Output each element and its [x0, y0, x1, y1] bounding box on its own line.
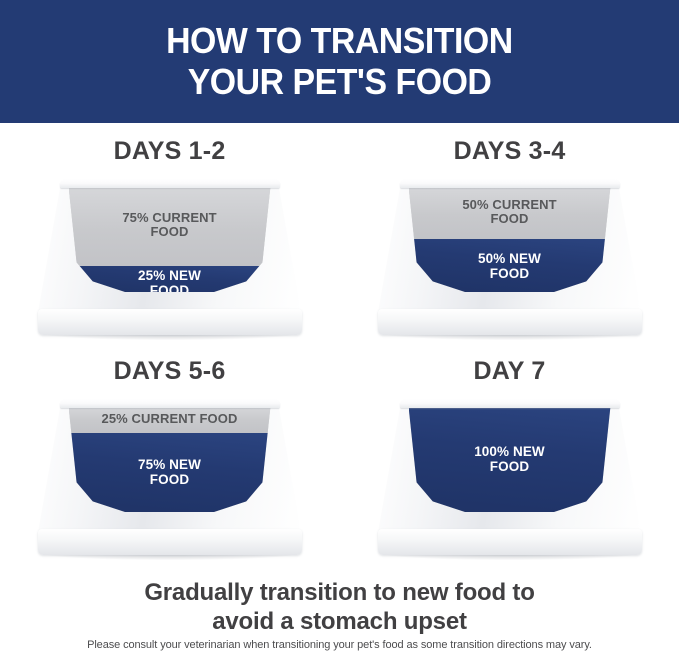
footer-disclaimer: Please consult your veterinarian when tr… — [0, 639, 679, 651]
bowl-base — [38, 309, 302, 335]
transition-steps-grid: DAYS 1-2 75% CURRENT FOOD 25% NEW FOOD — [0, 123, 679, 573]
current-food-label-line-1: 75% CURRENT — [69, 211, 271, 226]
new-food-label-line-1: 75% NEW — [69, 457, 271, 472]
new-food-label-line-1: 25% NEW — [69, 268, 271, 283]
current-food-fill: 75% CURRENT FOOD — [69, 186, 271, 266]
new-food-label-line-2: FOOD — [409, 266, 611, 281]
step-title: DAYS 5-6 — [0, 357, 339, 386]
bowl-rim — [60, 399, 280, 408]
page-title-line-1: HOW TO TRANSITION — [166, 21, 513, 61]
current-food-label: 50% CURRENT FOOD — [409, 198, 611, 227]
bowl-rim — [400, 179, 620, 188]
current-food-label-line-1: 25% CURRENT FOOD — [69, 412, 271, 427]
food-bowl-illustration: 25% CURRENT FOOD 75% NEW FOOD — [38, 399, 302, 555]
current-food-fill: 25% CURRENT FOOD — [69, 406, 271, 433]
step-title: DAY 7 — [340, 357, 679, 386]
step-title: DAYS 3-4 — [340, 137, 679, 166]
new-food-fill: 100% NEW FOOD — [409, 406, 611, 512]
new-food-fill: 75% NEW FOOD — [69, 433, 271, 513]
bowl-cavity: 25% CURRENT FOOD 75% NEW FOOD — [69, 406, 271, 512]
food-bowl-illustration: 100% NEW FOOD — [378, 399, 642, 555]
new-food-label: 100% NEW FOOD — [409, 444, 611, 474]
bowl-rim — [60, 179, 280, 188]
current-food-label-line-1: 50% CURRENT — [409, 198, 611, 213]
transition-step-days-5-6: DAYS 5-6 25% CURRENT FOOD 75% NEW FOOD — [0, 351, 339, 573]
new-food-label: 75% NEW FOOD — [69, 457, 271, 487]
current-food-label: 25% CURRENT FOOD — [69, 412, 271, 427]
header-banner: HOW TO TRANSITION YOUR PET'S FOOD — [0, 0, 679, 123]
footer-headline-line-1: Gradually transition to new food to — [0, 578, 679, 607]
current-food-label: 75% CURRENT FOOD — [69, 211, 271, 240]
bowl-cavity: 50% CURRENT FOOD 50% NEW FOOD — [409, 186, 611, 292]
new-food-label-line-2: FOOD — [69, 472, 271, 487]
transition-step-day-7: DAY 7 100% NEW FOOD — [340, 351, 679, 573]
new-food-label-line-2: FOOD — [409, 459, 611, 474]
current-food-label-line-2: FOOD — [409, 212, 611, 227]
current-food-label-line-2: FOOD — [69, 225, 271, 240]
new-food-label: 50% NEW FOOD — [409, 251, 611, 281]
food-bowl-illustration: 50% CURRENT FOOD 50% NEW FOOD — [378, 179, 642, 335]
page-title-line-2: YOUR PET'S FOOD — [188, 62, 492, 102]
footer: Gradually transition to new food to avoi… — [0, 573, 679, 662]
current-food-fill: 50% CURRENT FOOD — [409, 186, 611, 239]
step-title: DAYS 1-2 — [0, 137, 339, 166]
bowl-rim — [400, 399, 620, 408]
bowl-cavity: 100% NEW FOOD — [409, 406, 611, 512]
new-food-label-line-1: 50% NEW — [409, 251, 611, 266]
transition-step-days-3-4: DAYS 3-4 50% CURRENT FOOD 50% NEW FOOD — [340, 131, 679, 353]
footer-headline: Gradually transition to new food to avoi… — [0, 578, 679, 637]
bowl-cavity: 75% CURRENT FOOD 25% NEW FOOD — [69, 186, 271, 292]
bowl-base — [378, 309, 642, 335]
footer-headline-line-2: avoid a stomach upset — [0, 607, 679, 636]
food-bowl-illustration: 75% CURRENT FOOD 25% NEW FOOD — [38, 179, 302, 335]
new-food-label-line-1: 100% NEW — [409, 444, 611, 459]
transition-step-days-1-2: DAYS 1-2 75% CURRENT FOOD 25% NEW FOOD — [0, 131, 339, 353]
bowl-base — [38, 529, 302, 555]
bowl-base — [378, 529, 642, 555]
